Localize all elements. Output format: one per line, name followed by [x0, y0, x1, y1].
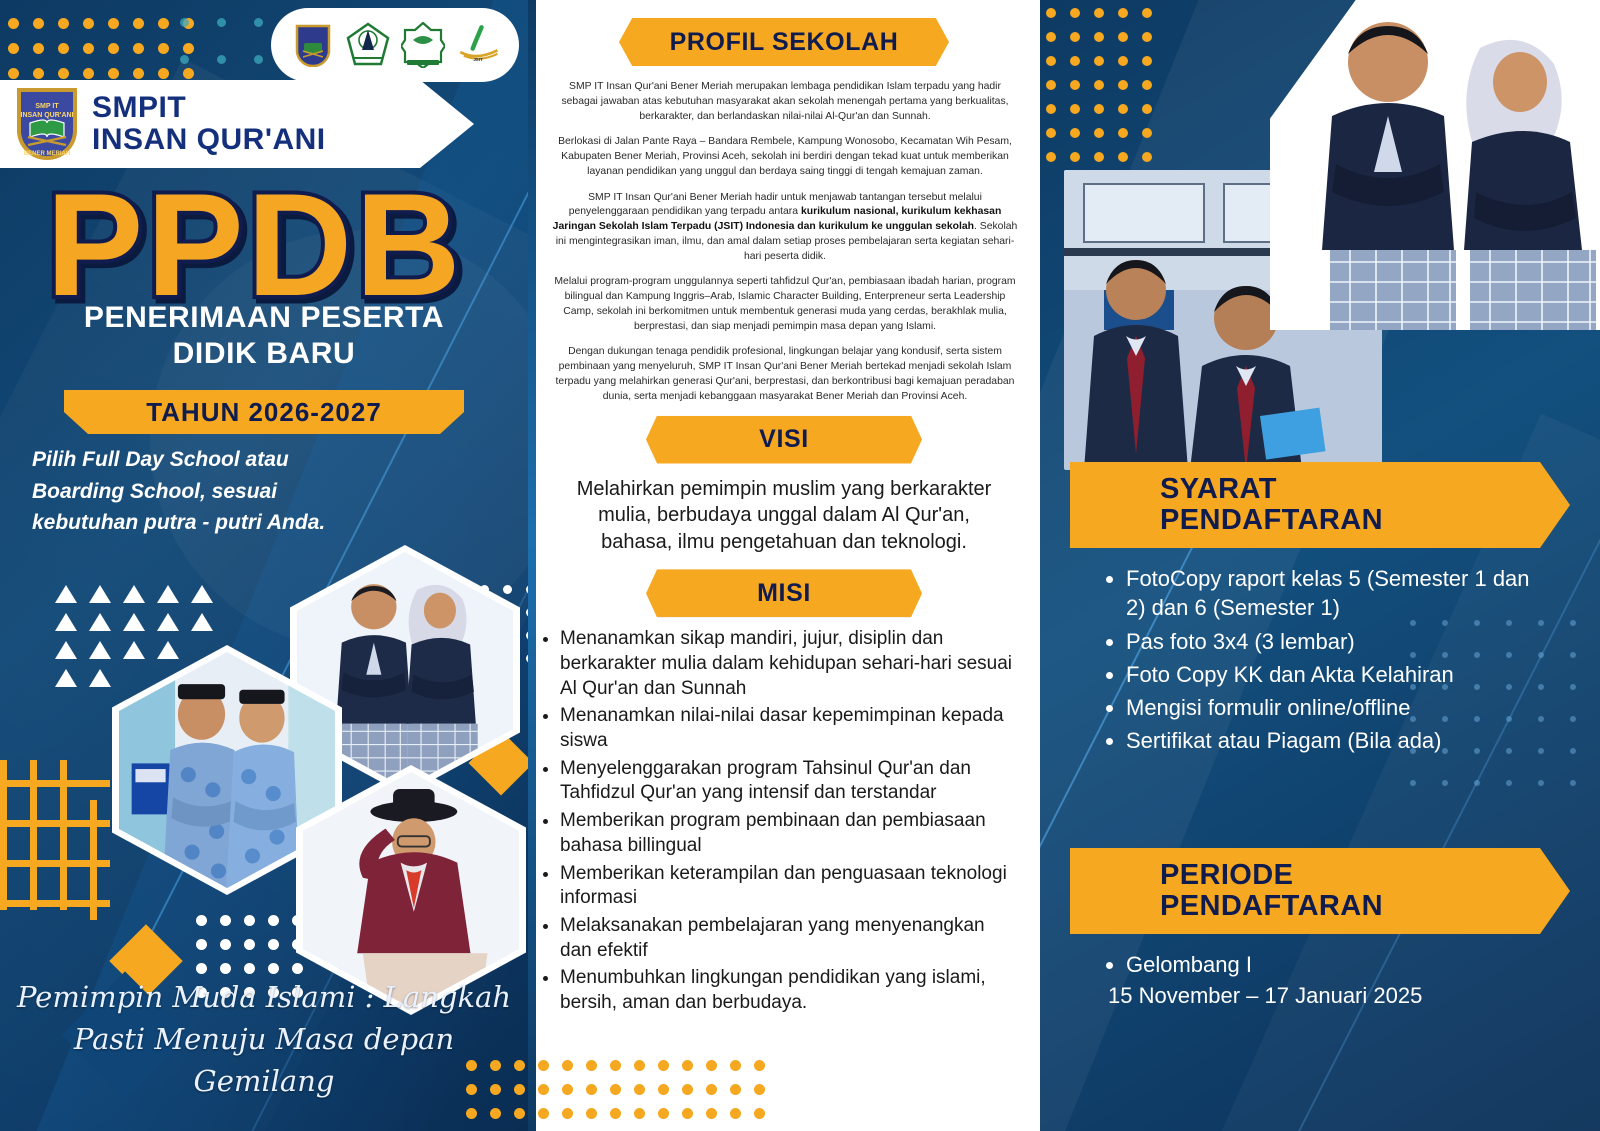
profil-paragraph-1: SMP IT Insan Qur'ani Bener Meriah merupa… — [552, 80, 1018, 124]
syarat-heading-line-1: SYARAT — [1160, 474, 1570, 505]
syarat-item: FotoCopy raport kelas 5 (Semester 1 dan … — [1126, 564, 1540, 623]
script-tagline: Pemimpin Muda Islami : Langkah Pasti Men… — [0, 976, 528, 1102]
syarat-item: Sertifikat atau Piagam (Bila ada) — [1126, 726, 1540, 755]
misi-item: Menanamkan sikap mandiri, jujur, disipli… — [560, 627, 1020, 701]
logo-kabupaten-bener-meriah-icon — [345, 20, 391, 70]
syarat-band: SYARAT PENDAFTARAN — [1070, 462, 1570, 548]
partner-logo-strip: JSIT — [271, 8, 519, 82]
misi-item: Menyelenggarakan program Tahsinul Qur'an… — [560, 757, 1020, 806]
syarat-list: FotoCopy raport kelas 5 (Semester 1 dan … — [1070, 548, 1570, 756]
panel-middle-content: PROFIL SEKOLAH SMP IT Insan Qur'ani Bene… — [528, 0, 1040, 1131]
misi-heading: MISI — [757, 579, 811, 608]
logo-kementerian-agama-icon — [400, 20, 446, 70]
periode-item: Gelombang I — [1126, 950, 1540, 979]
dot-grid-orange-right — [1046, 8, 1166, 176]
misi-item: Melaksanakan pembelajaran yang menyenang… — [560, 914, 1020, 963]
logo-smpit-insan-qurani-icon — [290, 20, 336, 70]
syarat-item: Mengisi formulir online/offline — [1126, 693, 1540, 722]
school-name-banner: SMP IT INSAN QUR'ANI BENER MERIAH SMPIT … — [0, 80, 420, 168]
misi-band: MISI — [646, 569, 922, 617]
hero-subnote: Pilih Full Day School atau Boarding Scho… — [32, 444, 362, 539]
profil-sekolah-band: PROFIL SEKOLAH — [619, 18, 949, 66]
visi-band: VISI — [646, 416, 922, 464]
school-abbrev: SMPIT — [92, 92, 326, 124]
profil-paragraph-5: Dengan dukungan tenaga pendidik profesio… — [552, 345, 1018, 404]
periode-section: PERIODE PENDAFTARAN Gelombang I 15 Novem… — [1070, 848, 1570, 1009]
syarat-item: Pas foto 3x4 (3 lembar) — [1126, 627, 1540, 656]
misi-list: Menanamkan sikap mandiri, jujur, disipli… — [528, 617, 1040, 1015]
visi-text: Melahirkan pemimpin muslim yang berkarak… — [528, 464, 1040, 556]
hero-headline: PENERIMAAN PESERTA DIDIK BARU — [0, 300, 528, 372]
profil-sekolah-body: SMP IT Insan Qur'ani Bener Meriah merupa… — [528, 66, 1040, 405]
misi-item: Memberikan program pembinaan dan pembias… — [560, 809, 1020, 858]
svg-text:BENER MERIAH: BENER MERIAH — [24, 151, 70, 157]
syarat-heading-line-2: PENDAFTARAN — [1160, 505, 1570, 536]
school-name-text: SMPIT INSAN QUR'ANI — [92, 92, 326, 157]
periode-dates: 15 November – 17 Januari 2025 — [1070, 983, 1570, 1009]
dot-grid-bottom-strip — [466, 1060, 778, 1131]
profil-paragraph-2: Berlokasi di Jalan Pante Raya – Bandara … — [552, 135, 1018, 179]
svg-text:SMP IT: SMP IT — [35, 103, 59, 110]
script-tagline-line-1: Pemimpin Muda Islami : Langkah — [0, 976, 528, 1018]
year-badge-label: TAHUN 2026-2027 — [146, 397, 382, 428]
periode-heading-line-1: PERIODE — [1160, 860, 1570, 891]
visi-heading: VISI — [759, 425, 809, 454]
profil-paragraph-3: SMP IT Insan Qur'ani Bener Meriah hadir … — [552, 191, 1018, 265]
ppdb-title: PPDB — [46, 172, 464, 318]
profil-paragraph-4: Melalui program-program unggulannya sepe… — [552, 275, 1018, 334]
headline-line-1: PENERIMAAN PESERTA — [0, 300, 528, 336]
svg-text:INSAN QUR'ANI: INSAN QUR'ANI — [21, 112, 74, 119]
script-tagline-line-2: Pasti Menuju Masa depan — [0, 1018, 528, 1060]
profil-sekolah-heading: PROFIL SEKOLAH — [670, 28, 899, 57]
school-shield-logo-icon: SMP IT INSAN QUR'ANI BENER MERIAH — [14, 85, 80, 163]
hash-grid-orange — [0, 760, 120, 920]
periode-heading-line-2: PENDAFTARAN — [1160, 891, 1570, 922]
panel-left-hero: JSIT SMP IT INSAN QUR'ANI BENER MERIAH S… — [0, 0, 528, 1131]
misi-item: Menumbuhkan lingkungan pendidikan yang i… — [560, 966, 1020, 1015]
periode-list: Gelombang I — [1070, 934, 1570, 979]
ppdb-brochure: JSIT SMP IT INSAN QUR'ANI BENER MERIAH S… — [0, 0, 1600, 1131]
logo-jsit-indonesia-icon: JSIT — [455, 20, 501, 70]
school-fullname: INSAN QUR'ANI — [92, 124, 326, 156]
panel-divider-left — [528, 0, 536, 1131]
svg-text:JSIT: JSIT — [473, 57, 483, 62]
headline-line-2: DIDIK BARU — [0, 336, 528, 372]
syarat-item: Foto Copy KK dan Akta Kelahiran — [1126, 660, 1540, 689]
syarat-section: SYARAT PENDAFTARAN FotoCopy raport kelas… — [1070, 462, 1570, 760]
script-tagline-line-3: Gemilang — [0, 1060, 528, 1102]
misi-item: Memberikan keterampilan dan penguasaan t… — [560, 862, 1020, 911]
panel-right-info: SYARAT PENDAFTARAN FotoCopy raport kelas… — [1040, 0, 1600, 1131]
periode-band: PERIODE PENDAFTARAN — [1070, 848, 1570, 934]
misi-item: Menanamkan nilai-nilai dasar kepemimpina… — [560, 704, 1020, 753]
year-badge: TAHUN 2026-2027 — [64, 390, 464, 434]
